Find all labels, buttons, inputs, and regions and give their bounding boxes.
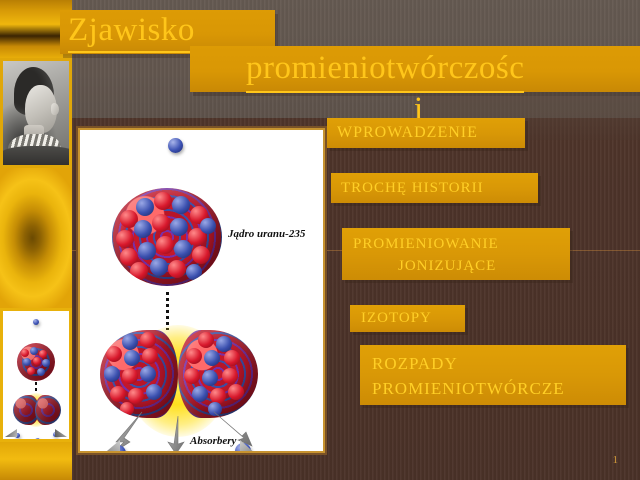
menu-item-izotopy[interactable]: IZOTOPY — [350, 305, 465, 332]
sidebar-gradient-bottom — [0, 442, 72, 480]
title-line-2: promieniotwórczośc — [190, 46, 640, 92]
thumb-nucleus — [17, 343, 55, 381]
dashed-connector — [166, 292, 169, 330]
thumb-neutron-b — [35, 438, 40, 439]
nucleus-label: Jądro uranu-235 — [228, 228, 305, 240]
title-line-2-text: promieniotwórczośc — [246, 46, 524, 93]
menu-item-izotopy-label: IZOTOPY — [361, 310, 432, 327]
page-number: 1 — [613, 454, 619, 466]
thumb-absorber-left — [5, 429, 17, 437]
menu-item-wprowadzenie[interactable]: WPROWADZENIE — [327, 118, 525, 148]
sidebar-gradient-radial — [0, 168, 72, 308]
menu-item-promieniowanie-jonizujace[interactable]: PROMIENIOWANIE JONIZUJĄCE — [342, 228, 570, 280]
menu-item-promieniowanie-label-2: JONIZUJĄCE — [353, 255, 570, 277]
marie-curie-portrait — [3, 61, 69, 165]
sidebar — [0, 0, 72, 480]
menu-item-troche-historii[interactable]: TROCHĘ HISTORII — [331, 173, 538, 203]
thumb-fragment-right — [35, 395, 61, 425]
sidebar-item-marie-curie-photo[interactable] — [0, 58, 72, 168]
uranium-nucleus — [112, 188, 222, 286]
thumb-absorber-right — [55, 429, 67, 437]
menu-item-rozpady-label-2: PROMIENIOTWÓRCZE — [372, 376, 626, 401]
fission-thumbnail-canvas — [3, 311, 69, 439]
thumb-neutron-incoming — [33, 319, 39, 325]
menu-item-rozpady-promieniotworcze[interactable]: ROZPADY PROMIENIOTWÓRCZE — [360, 345, 626, 405]
title-line-1-text: Zjawisko — [68, 10, 195, 53]
sidebar-item-fission-thumbnail[interactable] — [0, 308, 72, 442]
slide-root: Zjawisko promieniotwórczośc i WPROWADZEN… — [0, 0, 640, 480]
menu-item-rozpady-label-1: ROZPADY — [372, 354, 458, 373]
fission-fragment-right — [178, 330, 258, 418]
menu-item-promieniowanie-label-1: PROMIENIOWANIE — [353, 236, 499, 252]
incoming-neutron — [168, 138, 183, 153]
menu-item-troche-historii-label: TROCHĘ HISTORII — [341, 180, 484, 197]
absorber-label-line1: Absorbery — [190, 435, 236, 447]
fission-diagram-panel[interactable]: Jądro uranu-235 — [78, 128, 325, 453]
fission-fragment-left — [100, 330, 178, 418]
menu-item-wprowadzenie-label: WPROWADZENIE — [337, 124, 478, 142]
